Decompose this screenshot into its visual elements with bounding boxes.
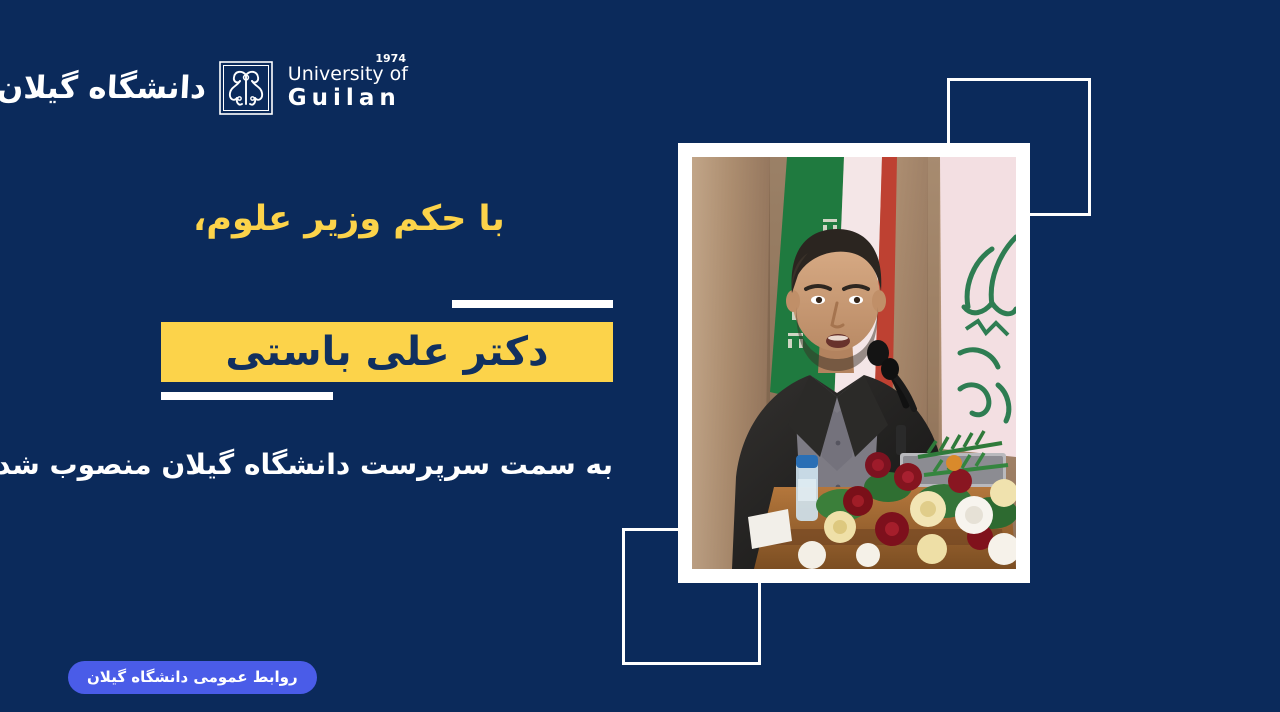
- guilan-university-emblem-icon: [218, 60, 274, 116]
- logo-persian-text: دانشگاه گیلان ۱۳۵۳: [0, 73, 206, 104]
- headline-kicker: با حکم وزیر علوم،: [193, 198, 613, 242]
- logo-english-year: 1974: [375, 52, 406, 65]
- public-relations-badge[interactable]: روابط عمومی دانشگاه گیلان: [68, 661, 317, 694]
- decor-dash-bottom: [161, 392, 333, 400]
- speaker-photo-illustration: [692, 157, 1016, 569]
- university-logo: دانشگاه گیلان ۱۳۵۳: [88, 44, 408, 132]
- announcement-poster: دانشگاه گیلان ۱۳۵۳: [0, 0, 1280, 712]
- logo-english-line1: University of: [288, 64, 408, 85]
- logo-english-text: 1974 University of Guilan: [288, 64, 408, 111]
- photo-frame: [678, 143, 1030, 583]
- logo-english-line2: Guilan: [288, 86, 401, 112]
- name-highlight-banner: دکتر علی باستی: [161, 322, 613, 382]
- logo-persian-name: دانشگاه گیلان: [0, 73, 207, 104]
- headline-subtitle: به سمت سرپرست دانشگاه گیلان منصوب شد: [53, 447, 613, 483]
- person-name: دکتر علی باستی: [225, 332, 548, 372]
- decor-dash-top: [452, 300, 613, 308]
- public-relations-badge-label: روابط عمومی دانشگاه گیلان: [87, 670, 298, 685]
- speaker-photo: [692, 157, 1016, 569]
